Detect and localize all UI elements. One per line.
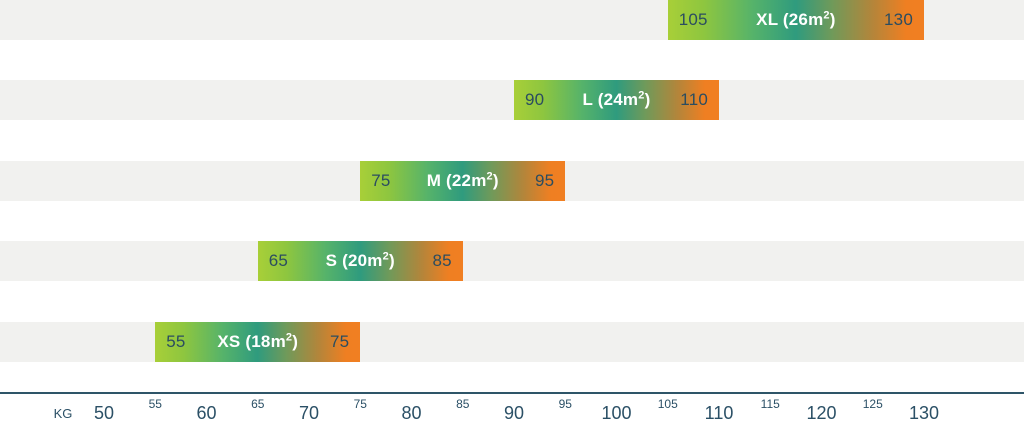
- axis-tick-major: 110: [705, 403, 734, 424]
- range-bar-title-text: M (22m: [427, 171, 487, 190]
- range-bar-xl[interactable]: 105 XL (26m2) 130: [668, 0, 924, 40]
- range-min-label: 90: [525, 90, 544, 110]
- range-bar-m[interactable]: 75 M (22m2) 95: [360, 161, 565, 201]
- axis-tick-major: 90: [504, 403, 524, 424]
- axis-tick-major: 100: [601, 403, 631, 424]
- range-max-label: 95: [535, 171, 554, 191]
- range-bar-title: L (24m2): [583, 90, 651, 110]
- axis-tick-minor: 105: [658, 397, 678, 411]
- range-bar-title-suffix: ): [830, 10, 836, 29]
- axis-tick-minor: 75: [354, 397, 367, 411]
- axis-tick-major: 130: [909, 403, 939, 424]
- axis-unit-label: KG: [54, 406, 73, 421]
- range-bar-title-text: XL (26m: [756, 10, 823, 29]
- axis-tick-major: 70: [299, 403, 319, 424]
- axis-tick-minor: 125: [863, 397, 883, 411]
- range-bar-title-text: XS (18m: [217, 332, 286, 351]
- axis-tick-major: 120: [806, 403, 836, 424]
- axis-tick-minor: 85: [456, 397, 469, 411]
- axis-tick-major: 80: [401, 403, 421, 424]
- range-max-label: 85: [432, 251, 451, 271]
- range-bar-title-text: S (20m: [326, 251, 383, 270]
- range-min-label: 65: [269, 251, 288, 271]
- axis-tick-minor: 65: [251, 397, 264, 411]
- range-min-label: 55: [166, 332, 185, 352]
- chart-row-background: [0, 80, 1024, 120]
- range-bar-title: XS (18m2): [217, 332, 298, 352]
- range-bar-xs[interactable]: 55 XS (18m2) 75: [155, 322, 360, 362]
- chart-row-background: [0, 322, 1024, 362]
- range-max-label: 75: [330, 332, 349, 352]
- range-bar-title-suffix: ): [645, 90, 651, 109]
- range-max-label: 110: [680, 90, 708, 110]
- range-bar-title-suffix: ): [493, 171, 499, 190]
- range-bar-title: XL (26m2): [756, 10, 835, 30]
- axis-tick-minor: 55: [149, 397, 162, 411]
- range-bar-title-suffix: ): [292, 332, 298, 351]
- axis-tick-major: 60: [196, 403, 216, 424]
- range-min-label: 75: [371, 171, 390, 191]
- range-bar-title-suffix: ): [389, 251, 395, 270]
- x-axis: KG50607080901001101201305565758595105115…: [0, 394, 1024, 424]
- range-bar-title: M (22m2): [427, 171, 499, 191]
- chart-row-background: [0, 241, 1024, 281]
- range-bar-s[interactable]: 65 S (20m2) 85: [258, 241, 463, 281]
- range-min-label: 105: [679, 10, 708, 30]
- axis-tick-minor: 115: [761, 397, 780, 411]
- axis-tick-minor: 95: [559, 397, 572, 411]
- range-bar-title-text: L (24m: [583, 90, 639, 109]
- weight-range-chart: 105 XL (26m2) 130 90 L (24m2) 110 75 M (…: [0, 0, 1024, 424]
- range-max-label: 130: [884, 10, 913, 30]
- range-bar-title: S (20m2): [326, 251, 395, 271]
- axis-tick-major: 50: [94, 403, 114, 424]
- range-bar-l[interactable]: 90 L (24m2) 110: [514, 80, 719, 120]
